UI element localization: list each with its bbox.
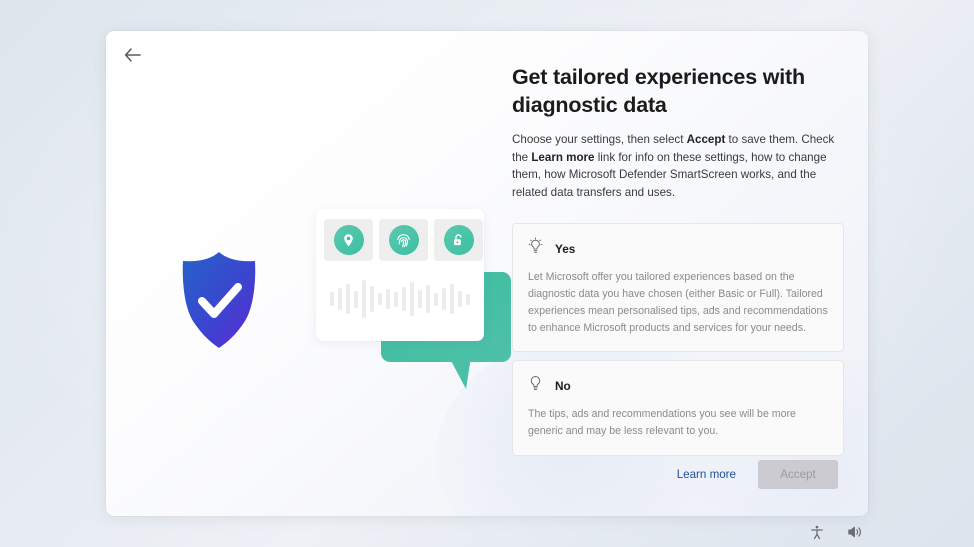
accept-button[interactable]: Accept <box>758 460 838 489</box>
wave-bar <box>346 284 350 314</box>
option-card-no[interactable]: No The tips, ads and recommendations you… <box>512 360 844 455</box>
wave-bar <box>394 292 398 307</box>
option-head-no: No <box>528 374 828 397</box>
diagnostic-illustration <box>166 179 511 394</box>
oobe-panel: Get tailored experiences with diagnostic… <box>106 31 868 516</box>
subtitle-learnmore-emphasis: Learn more <box>531 151 594 164</box>
wave-bar <box>330 292 334 306</box>
tile-location <box>324 219 373 261</box>
wave-bar <box>442 288 446 310</box>
diagnostic-waveform <box>330 273 475 325</box>
option-list: Yes Let Microsoft offer you tailored exp… <box>512 223 844 455</box>
privacy-icon-tiles <box>324 219 483 261</box>
wave-bar <box>386 289 390 309</box>
location-pin-icon <box>334 225 364 255</box>
lightbulb-on-icon <box>528 237 543 260</box>
page-title: Get tailored experiences with diagnostic… <box>512 64 844 119</box>
wave-bar <box>450 284 454 314</box>
back-button[interactable] <box>115 40 149 72</box>
option-description-no: The tips, ads and recommendations you se… <box>528 406 828 439</box>
option-label-no: No <box>555 379 571 393</box>
back-arrow-icon <box>124 48 141 65</box>
content-column: Get tailored experiences with diagnostic… <box>512 64 844 456</box>
wave-bar <box>402 287 406 311</box>
option-head-yes: Yes <box>528 237 828 260</box>
wave-bar <box>418 290 422 308</box>
wave-bar <box>410 282 414 316</box>
shield-check-icon <box>174 249 264 351</box>
lightbulb-off-icon <box>528 374 543 397</box>
wave-bar <box>426 285 430 313</box>
illustration-info-card <box>316 209 484 341</box>
system-tray <box>806 521 866 543</box>
accessibility-icon[interactable] <box>806 521 828 543</box>
wave-bar <box>434 293 438 306</box>
learn-more-link[interactable]: Learn more <box>677 468 736 481</box>
volume-icon[interactable] <box>844 521 866 543</box>
speech-bubble-tail <box>449 357 471 389</box>
page-subtitle: Choose your settings, then select Accept… <box>512 131 844 201</box>
wave-bar <box>362 280 366 318</box>
wave-bar <box>458 291 462 307</box>
tile-padlock <box>434 219 483 261</box>
subtitle-text-1: Choose your settings, then select <box>512 133 687 146</box>
option-description-yes: Let Microsoft offer you tailored experie… <box>528 269 828 336</box>
wave-bar <box>338 288 342 310</box>
wave-bar <box>378 293 382 305</box>
subtitle-accept-emphasis: Accept <box>687 133 726 146</box>
tile-fingerprint <box>379 219 428 261</box>
fingerprint-icon <box>389 225 419 255</box>
option-label-yes: Yes <box>555 242 575 256</box>
wave-bar <box>466 294 470 305</box>
action-bar: Learn more Accept <box>677 460 838 489</box>
wave-bar <box>370 286 374 312</box>
option-card-yes[interactable]: Yes Let Microsoft offer you tailored exp… <box>512 223 844 352</box>
unlocked-padlock-icon <box>444 225 474 255</box>
wave-bar <box>354 291 358 308</box>
